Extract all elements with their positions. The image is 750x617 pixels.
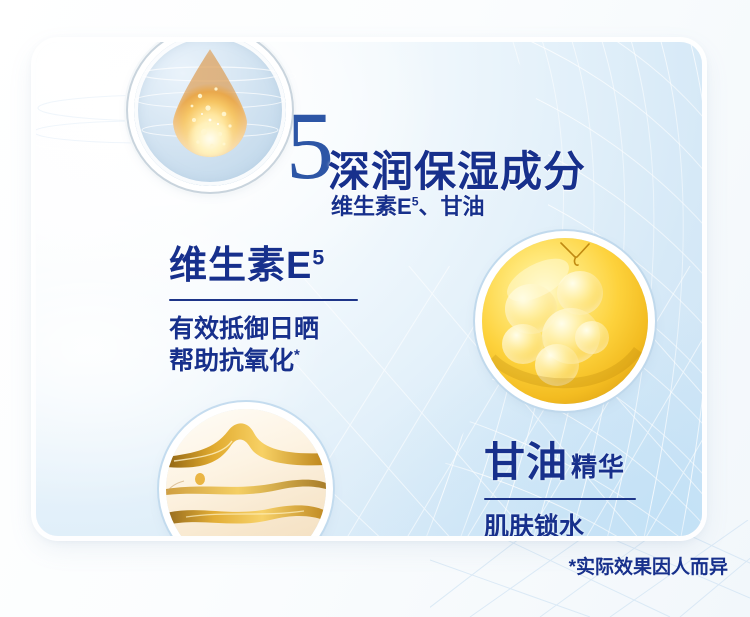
glycerin-divider bbox=[484, 498, 636, 500]
vitamin-e-title: 维生素E5 bbox=[169, 247, 358, 287]
vitamin-e-desc-line-1: 有效抵御日晒 bbox=[169, 313, 358, 345]
vitamin-e-desc-line-2-text: 帮助抗氧化 bbox=[169, 347, 294, 375]
content-card: 5 深润保湿成分 维生素E5、甘油 维生素E5 有效抵御日晒 帮助抗氧化* 甘油… bbox=[36, 42, 702, 536]
glycerin-title: 甘油 精华 bbox=[484, 428, 636, 488]
glycerin-title-small: 精华 bbox=[571, 447, 625, 484]
droplet-sparkles bbox=[134, 42, 286, 186]
advertisement-banner: 5 深润保湿成分 维生素E5、甘油 维生素E5 有效抵御日晒 帮助抗氧化* 甘油… bbox=[0, 0, 750, 617]
glycerin-title-large: 甘油 bbox=[484, 428, 568, 488]
oil-ribbons bbox=[166, 409, 326, 536]
glycerin-swirl-image-circle bbox=[166, 409, 326, 536]
vitamin-e-title-superscript: 5 bbox=[312, 245, 325, 269]
footnote-disclaimer: *实际效果因人而异 bbox=[569, 552, 728, 579]
oil-capsules-image-circle bbox=[482, 238, 648, 404]
subheadline-text: 维生素E5、甘油 bbox=[331, 189, 485, 221]
subheadline-superscript: 5 bbox=[412, 195, 419, 209]
oil-circle-sheen bbox=[482, 238, 648, 404]
vitamin-e-divider bbox=[169, 299, 358, 301]
glycerin-block: 甘油 精华 肌肤锁水 防止肌肤干燥 bbox=[484, 428, 636, 536]
droplet-image-circle bbox=[134, 42, 286, 186]
vitamin-e-desc-line-2: 帮助抗氧化* bbox=[169, 345, 358, 377]
glycerin-description: 肌肤锁水 防止肌肤干燥 bbox=[484, 511, 636, 536]
subheadline-main: 维生素E bbox=[331, 194, 412, 219]
headline-number: 5 bbox=[286, 98, 332, 194]
subheadline-tail: 、甘油 bbox=[419, 194, 485, 219]
vitamin-e-block: 维生素E5 有效抵御日晒 帮助抗氧化* bbox=[169, 247, 358, 377]
glycerin-desc-line-1: 肌肤锁水 bbox=[484, 511, 636, 536]
vitamin-e-desc-asterisk: * bbox=[294, 347, 300, 364]
vitamin-e-description: 有效抵御日晒 帮助抗氧化* bbox=[169, 313, 358, 377]
vitamin-e-title-main: 维生素E bbox=[169, 245, 312, 287]
